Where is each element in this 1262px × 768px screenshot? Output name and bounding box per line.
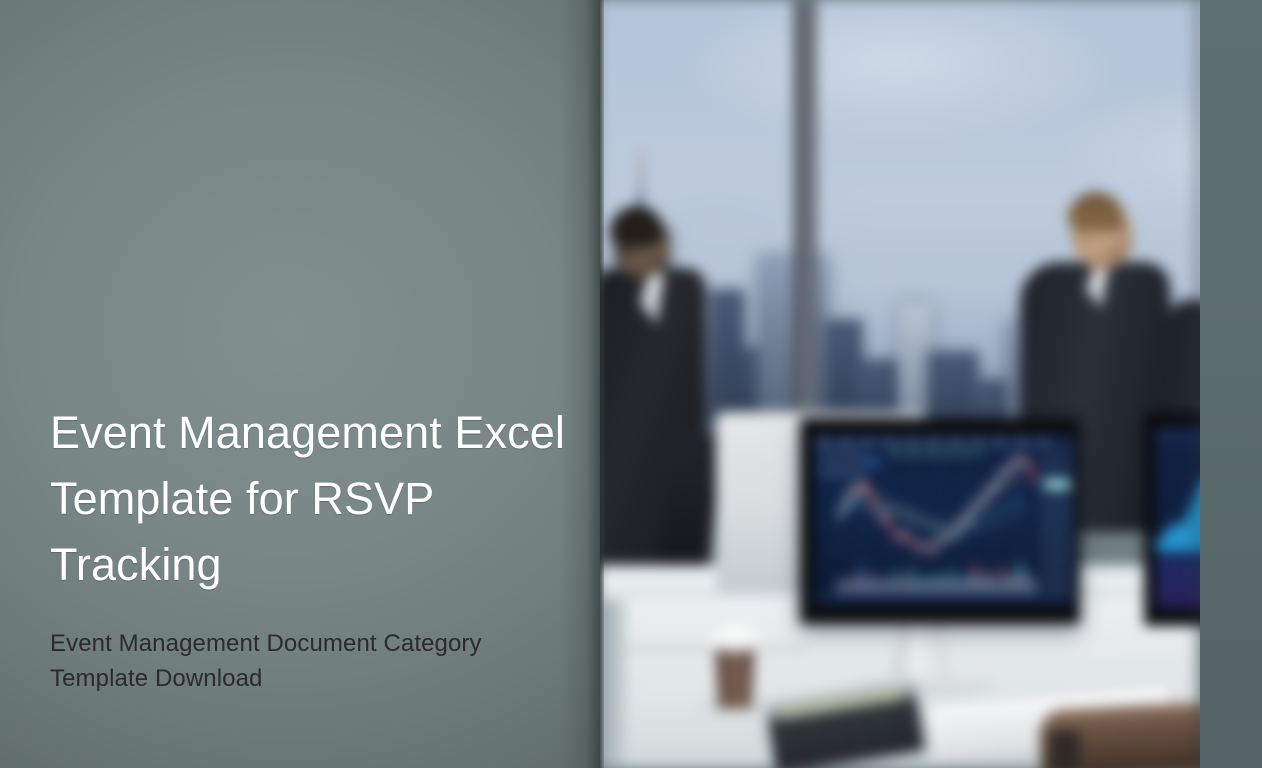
hero-subtitle-line-1: Event Management Document Category bbox=[50, 626, 570, 661]
volume-bars bbox=[836, 560, 1036, 594]
trading-monitor bbox=[800, 418, 1080, 624]
hero-subtitle: Event Management Document Category Templ… bbox=[50, 598, 570, 696]
hero-banner-page: Event Management Excel Template for RSVP… bbox=[0, 0, 1262, 768]
window-mullion bbox=[794, 0, 816, 430]
trading-monitor-screen bbox=[814, 436, 1074, 604]
right-wall-panel bbox=[1200, 0, 1262, 768]
hero-text-block: Event Management Excel Template for RSVP… bbox=[50, 400, 570, 696]
hero-subtitle-line-2: Template Download bbox=[50, 661, 570, 696]
coffee-cup bbox=[708, 622, 762, 710]
moving-average-lines bbox=[836, 452, 1036, 557]
office-chair-arm bbox=[1050, 730, 1080, 768]
page-title: Event Management Excel Template for RSVP… bbox=[50, 400, 570, 598]
